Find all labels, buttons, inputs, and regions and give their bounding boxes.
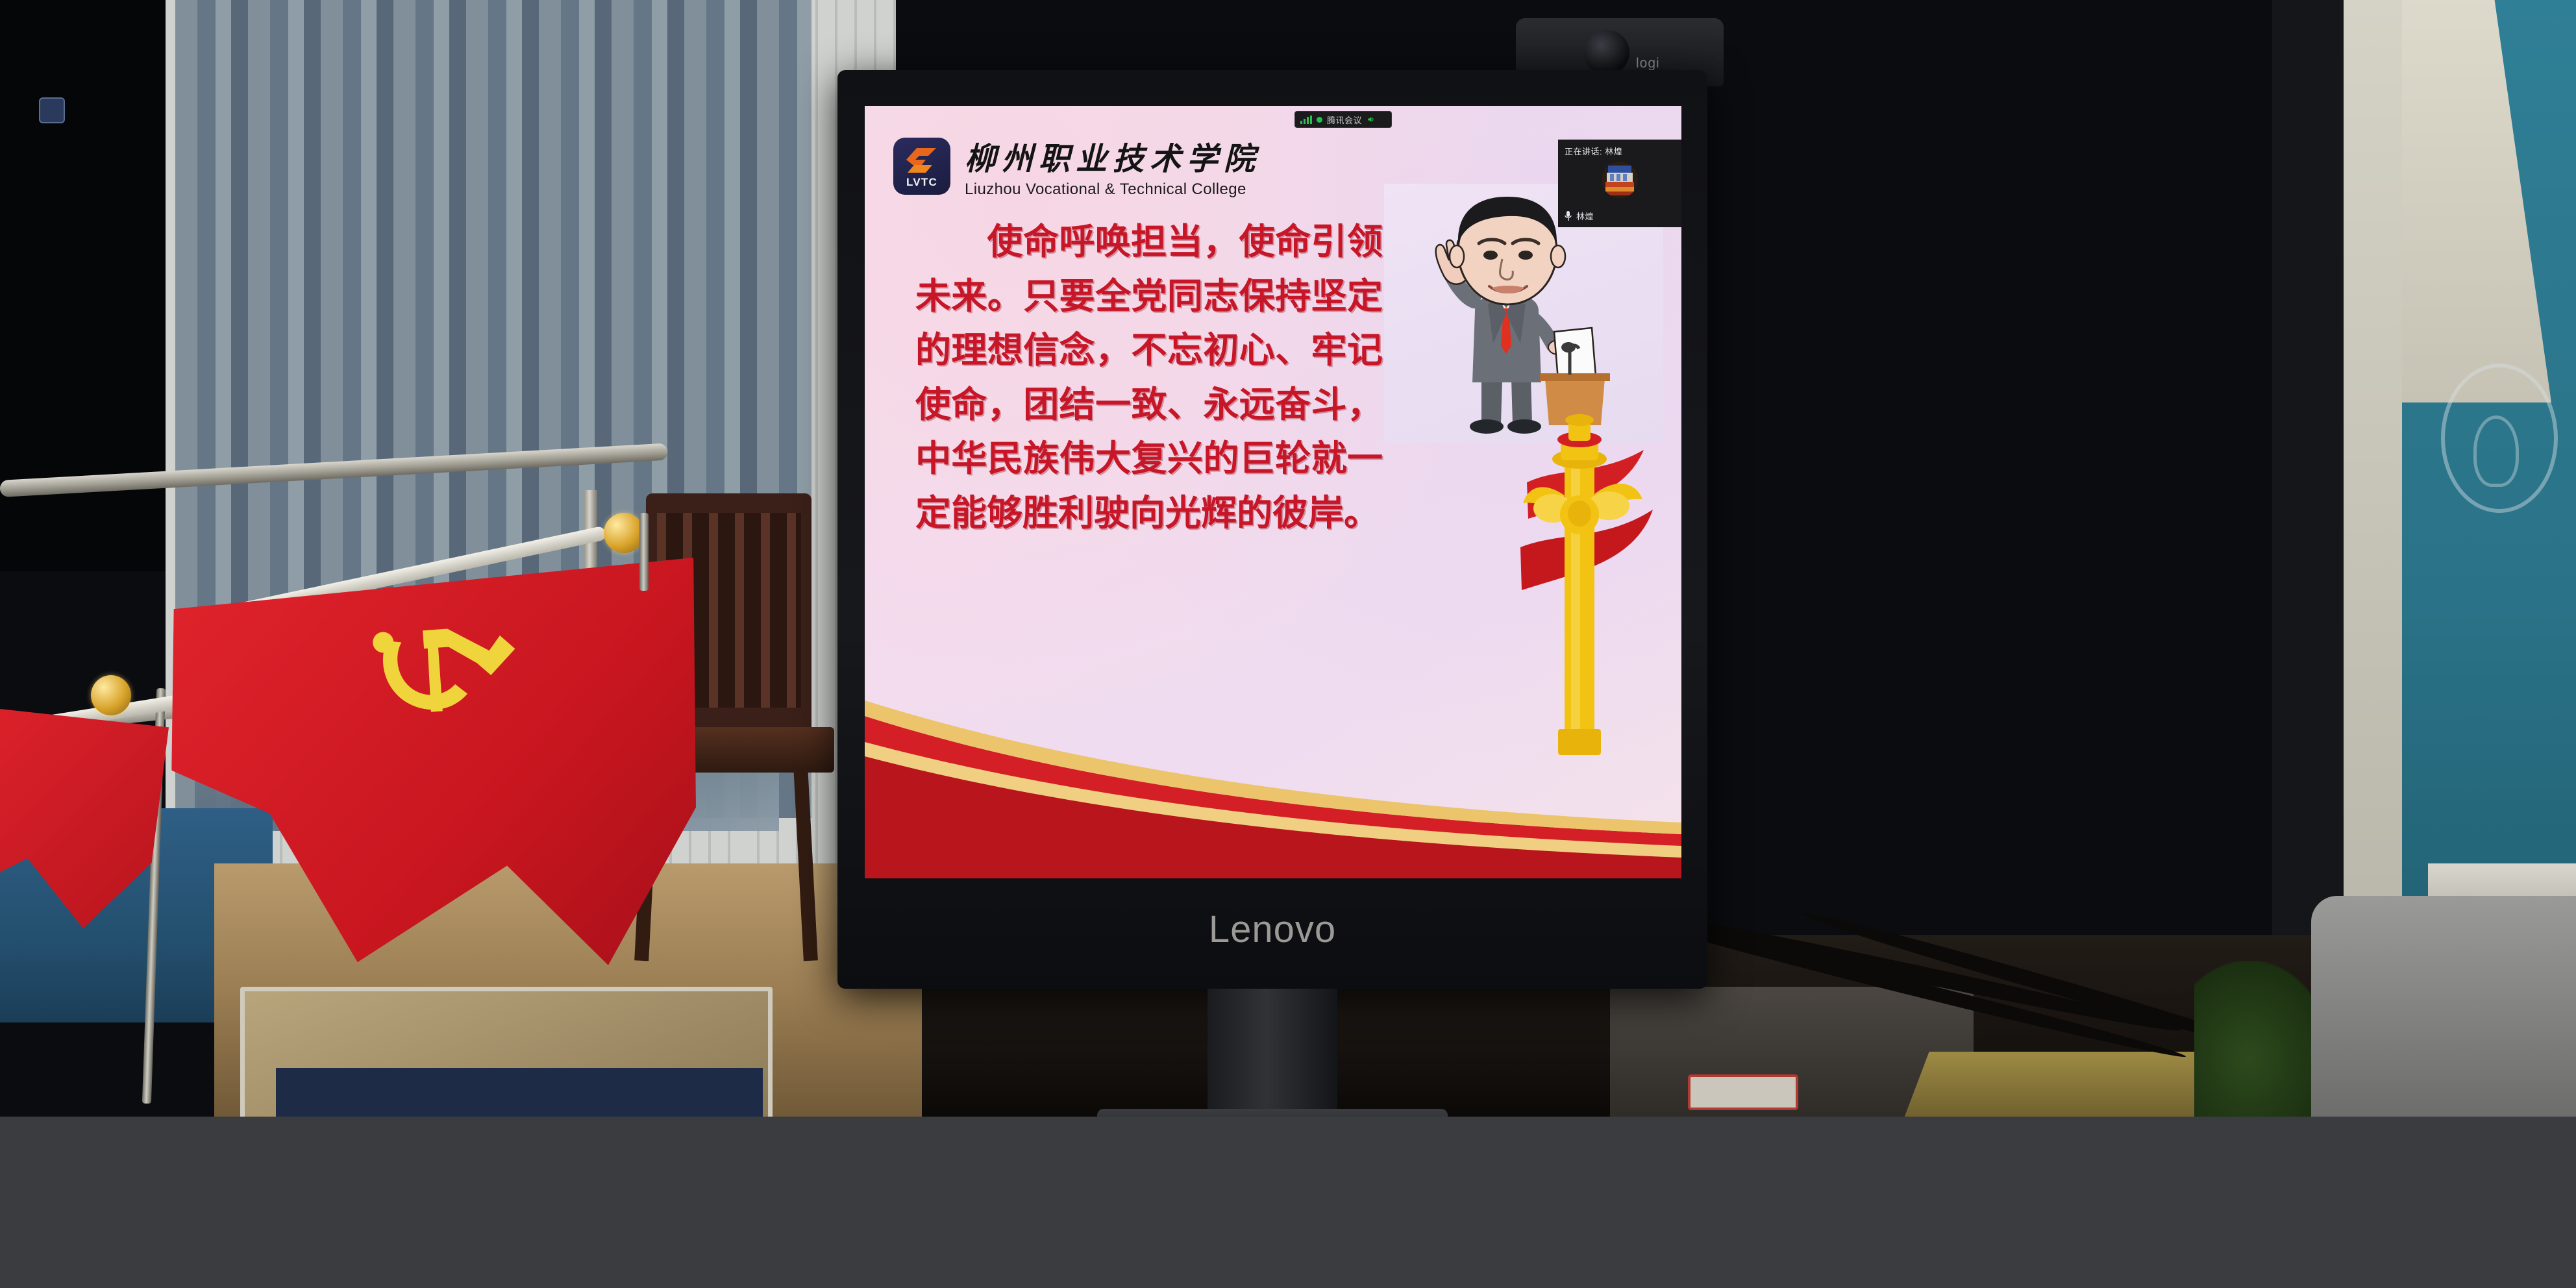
lvtc-mark-icon bbox=[904, 145, 940, 174]
participant-video-tile[interactable]: 正在讲话: 林煌 bbox=[1558, 140, 1681, 227]
potted-plant bbox=[2194, 961, 2331, 1117]
webcam-brand-label: logi bbox=[1636, 56, 1660, 71]
slide-body-content: 使命呼唤担当，使命引领未来。只要全党同志保持坚定的理想信念，不忘初心、牢记使命，… bbox=[915, 222, 1383, 533]
slide-header: LVTC 柳州职业技术学院 Liuzhou Vocational & Techn… bbox=[893, 133, 1261, 199]
flag-pole bbox=[639, 513, 649, 591]
meeting-toolbar-title: 腾讯会议 bbox=[1327, 114, 1362, 126]
monitor-stand-base bbox=[1097, 1109, 1448, 1117]
framed-placard bbox=[240, 987, 773, 1117]
room-photo: logi LVTC 柳州职业技术学院 Liuzhou Vocational bbox=[0, 0, 2576, 1117]
meeting-toolbar[interactable]: 腾讯会议 bbox=[1294, 111, 1392, 128]
monitor-brand-label: Lenovo bbox=[837, 908, 1707, 951]
microphone-icon[interactable] bbox=[1564, 210, 1572, 221]
pole-finial-ornament bbox=[604, 513, 644, 553]
pole-finial-ornament bbox=[91, 675, 131, 715]
lvtc-logo-icon: LVTC bbox=[893, 138, 950, 195]
office-chair bbox=[2311, 896, 2576, 1117]
school-name-en: Liuzhou Vocational & Technical College bbox=[965, 180, 1261, 199]
speaking-status-label: 正在讲话: 林煌 bbox=[1565, 145, 1622, 157]
avatar-image bbox=[1602, 162, 1638, 198]
placard-panel bbox=[276, 1068, 763, 1117]
speaker-icon[interactable] bbox=[1367, 116, 1374, 123]
monitor-screen: LVTC 柳州职业技术学院 Liuzhou Vocational & Techn… bbox=[865, 106, 1681, 878]
school-name-cn: 柳州职业技术学院 bbox=[965, 133, 1261, 179]
lvtc-logo-text: LVTC bbox=[893, 176, 950, 189]
bottom-letterbox-bar bbox=[0, 1117, 2576, 1288]
participant-avatar bbox=[1602, 162, 1638, 198]
status-dot-icon bbox=[1317, 117, 1322, 123]
presentation-slide: LVTC 柳州职业技术学院 Liuzhou Vocational & Techn… bbox=[865, 106, 1681, 878]
placard-lvtc-logo bbox=[39, 97, 65, 123]
participant-footer: 林煌 bbox=[1564, 210, 1594, 222]
signal-bars-icon bbox=[1300, 116, 1312, 124]
participant-name: 林煌 bbox=[1576, 210, 1594, 222]
red-wave-decoration bbox=[865, 664, 1681, 878]
slide-body-text: 使命呼唤担当，使命引领未来。只要全党同志保持坚定的理想信念，不忘初心、牢记使命，… bbox=[915, 215, 1383, 541]
webcam-lens-icon bbox=[1584, 30, 1629, 75]
lenovo-monitor: logi LVTC 柳州职业技术学院 Liuzhou Vocational bbox=[837, 70, 1707, 989]
monitor-stand-neck bbox=[1207, 989, 1337, 1117]
desk-yellow-panel bbox=[1902, 1052, 2240, 1117]
school-names: 柳州职业技术学院 Liuzhou Vocational & Technical … bbox=[965, 133, 1261, 199]
equipment-label bbox=[1688, 1074, 1798, 1110]
hammer-and-sickle-emblem bbox=[360, 608, 530, 743]
wall-circle-emblem-inner bbox=[2473, 415, 2519, 487]
